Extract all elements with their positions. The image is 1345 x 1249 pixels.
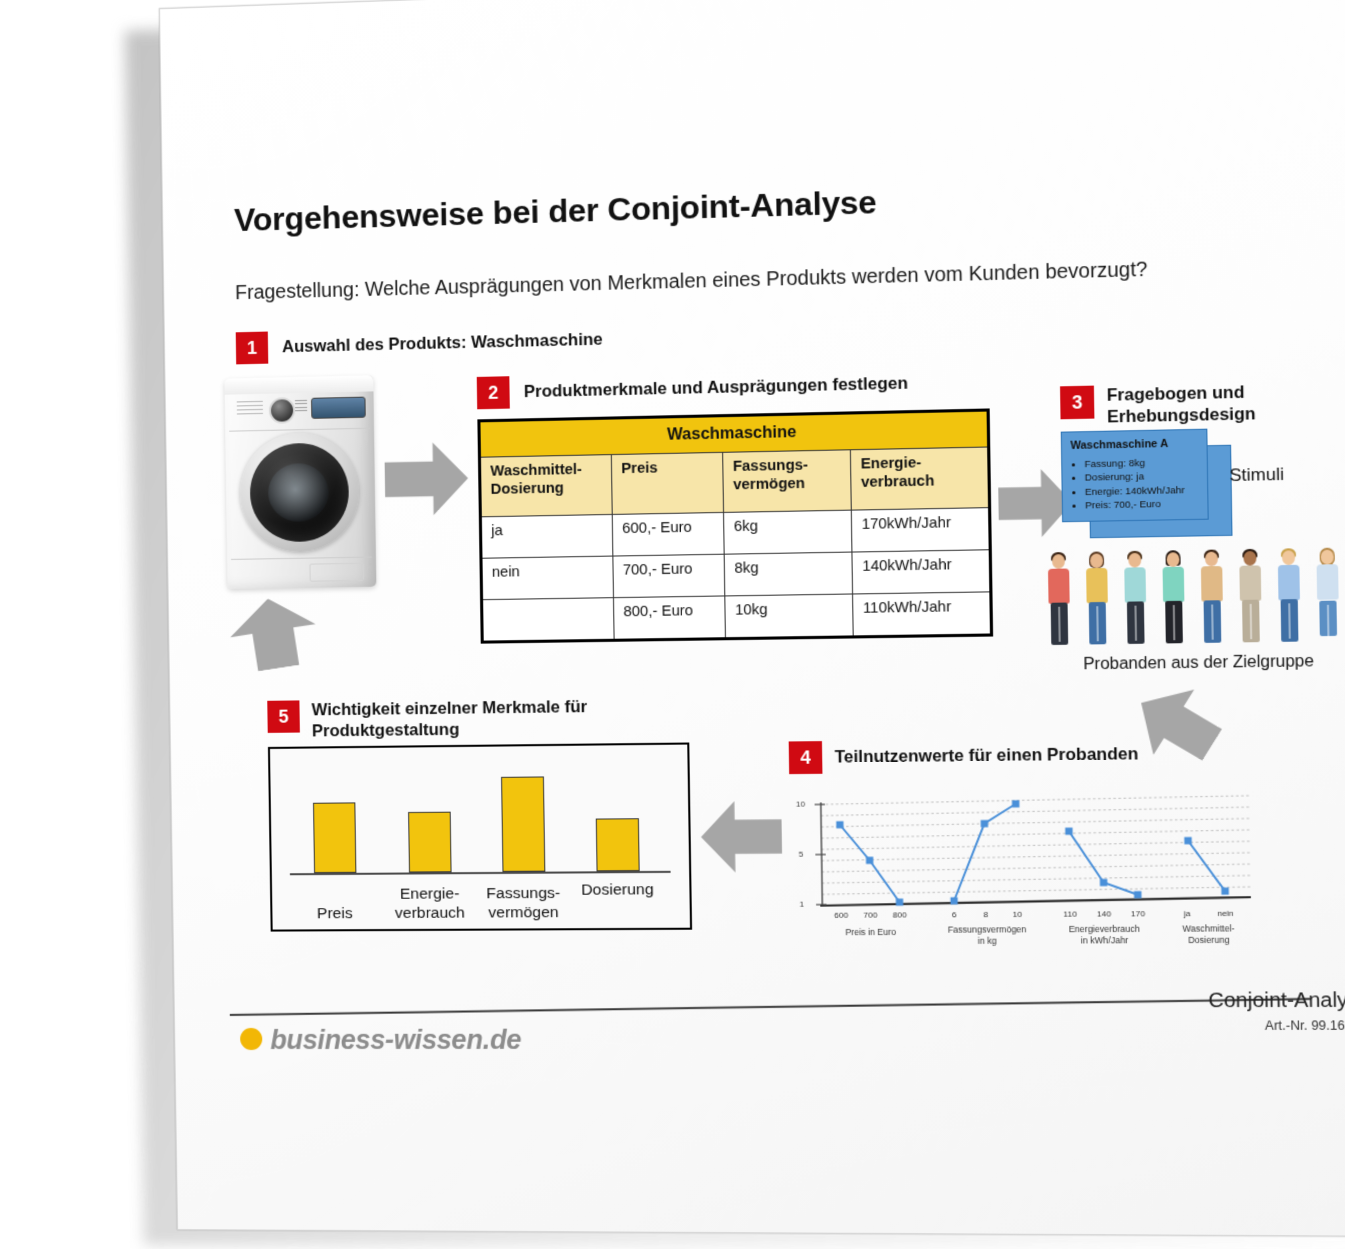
- step-label-4: Teilnutzenwerte für einen Probanden: [835, 744, 1139, 769]
- person-figure: [1197, 551, 1226, 647]
- x-group-label-dosierung-l2: Dosierung: [1188, 934, 1230, 945]
- stimulus-card-list: Fassung: 8kg Dosierung: ja Energie: 140k…: [1071, 456, 1199, 514]
- cell-1-1: 700,- Euro: [613, 554, 725, 597]
- footer-doc-title: Conjoint-Analyse: [1208, 989, 1345, 1013]
- y-tick-5: 5: [799, 850, 804, 859]
- person-figure: [1236, 551, 1265, 647]
- person-head: [1167, 552, 1180, 567]
- person-legs: [1242, 600, 1260, 643]
- bar-label-preis-l1: Preis: [317, 905, 353, 922]
- header-line-2: verbrauch: [861, 473, 935, 491]
- person-legs: [1204, 600, 1222, 643]
- stimulus-card-front: Waschmaschine A Fassung: 8kg Dosierung: …: [1061, 429, 1209, 523]
- x-axis: [820, 897, 1251, 905]
- table-header-cell-2: Fassungs- vermögen: [723, 450, 852, 513]
- x-tick-energie-140: 140: [1085, 909, 1123, 918]
- bar-label-energie-l1: Energie-: [400, 886, 460, 903]
- cell-2-2: 10kg: [725, 594, 853, 639]
- step-label-3: Fragebogen und Erhebungsdesign: [1107, 382, 1256, 429]
- person-figure: [1121, 553, 1150, 648]
- y-tick-1: 1: [799, 900, 804, 909]
- person-legs: [1127, 601, 1145, 644]
- bar-preis: [313, 802, 356, 873]
- step-badge-5: 5: [267, 700, 300, 732]
- person-head: [1090, 554, 1103, 569]
- chart-teilnutzenwerte: 10 5 1 600 700 800 Preis in Euro 6 8 10 …: [789, 786, 1255, 943]
- person-body: [1201, 566, 1223, 602]
- x-group-label-preis: Preis in Euro: [819, 927, 924, 938]
- x-group-label-energie-l2: in kWh/Jahr: [1081, 935, 1129, 946]
- line-chart-svg: [789, 786, 1255, 943]
- chart-wichtigkeit: Preis Energie- verbrauch Fassungs- vermö…: [268, 743, 692, 932]
- x-group-label-energieverbrauch: Energieverbrauch in kWh/Jahr: [1049, 924, 1160, 946]
- step-label-3-line-2: Erhebungsdesign: [1107, 405, 1256, 427]
- table-header-cell-1: Preis: [611, 452, 723, 514]
- wm-top: [224, 375, 373, 394]
- header-line-1: Preis: [621, 460, 658, 477]
- person-legs: [1089, 602, 1107, 645]
- person-figure: [1274, 550, 1303, 646]
- x-tick-dosierung-ja: ja: [1170, 909, 1204, 918]
- person-head: [1128, 553, 1141, 568]
- cell-2-0: [482, 598, 614, 642]
- step-label-3-line-1: Fragebogen und: [1107, 383, 1245, 405]
- person-body: [1239, 565, 1261, 601]
- person-legs: [1051, 603, 1069, 645]
- bar-label-fassung-l2: vermögen: [488, 904, 559, 922]
- cell-2-1: 800,- Euro: [613, 596, 725, 640]
- person-figure: [1045, 554, 1074, 649]
- person-head: [1282, 550, 1295, 565]
- person-figure: [1159, 552, 1188, 647]
- table-header-cell-0: Waschmittel- Dosierung: [479, 455, 612, 517]
- step-label-5: Wichtigkeit einzelner Merkmale für Produ…: [311, 697, 587, 743]
- wm-small-controls: [295, 400, 307, 414]
- person-body: [1278, 565, 1300, 601]
- person-body: [1086, 568, 1108, 603]
- bar-label-energie-l2: verbrauch: [395, 904, 465, 921]
- step-badge-3: 3: [1060, 386, 1094, 420]
- step-badge-4: 4: [789, 741, 823, 774]
- respondents-caption: Probanden aus der Zielgruppe: [1028, 652, 1345, 675]
- wm-buttons: [237, 401, 263, 418]
- wm-door-glass: [249, 442, 349, 542]
- x-tick-energie-110: 110: [1051, 909, 1089, 918]
- table-header-cell-3: Energie- verbrauch: [851, 447, 990, 510]
- step-label-1: Auswahl des Produkts: Waschmaschine: [282, 329, 603, 358]
- slide-sheet: Vorgehensweise bei der Conjoint-Analyse …: [159, 0, 1345, 1237]
- x-tick-energie-170: 170: [1119, 909, 1157, 918]
- person-legs: [1165, 601, 1183, 644]
- washing-machine-image: [224, 375, 376, 589]
- wm-drawer: [309, 563, 364, 582]
- arrow-left-utilities-to-importance: [700, 801, 782, 873]
- x-group-label-energie-l1: Energieverbrauch: [1069, 924, 1140, 935]
- bar-energieverbrauch: [408, 812, 452, 873]
- x-group-label-preis-l1: Preis in Euro: [845, 927, 896, 937]
- cell-0-0: ja: [480, 514, 612, 558]
- series-dosierung: [1188, 840, 1225, 891]
- person-head: [1205, 552, 1218, 567]
- x-group-label-fassungsvermoegen: Fassungsvermögen in kg: [932, 924, 1042, 946]
- person-head: [1052, 554, 1065, 569]
- step-label-5-line-2: Produktgestaltung: [312, 721, 460, 741]
- bar-label-dosierung-l1: Dosierung: [581, 881, 654, 899]
- business-wissen-logo-text: business-wissen.de: [270, 1025, 521, 1056]
- x-tick-fassung-10: 10: [998, 910, 1036, 919]
- cell-1-0: nein: [481, 556, 613, 600]
- cell-0-2: 6kg: [724, 510, 852, 554]
- wm-drum: [268, 463, 329, 522]
- header-line-2: Dosierung: [491, 480, 564, 498]
- x-group-label-fassung-l2: in kg: [978, 935, 997, 945]
- header-line-1: Fassungs-: [733, 457, 808, 475]
- person-body: [1124, 567, 1146, 602]
- wm-dial: [269, 397, 296, 424]
- x-group-label-dosierung: Waschmittel- Dosierung: [1155, 923, 1262, 945]
- step-badge-1: 1: [236, 332, 269, 365]
- person-legs: [1281, 599, 1299, 642]
- footer-divider: [230, 998, 1310, 1016]
- cell-0-3: 170kWh/Jahr: [851, 508, 990, 552]
- header-line-2: vermögen: [733, 475, 805, 493]
- cell-1-2: 8kg: [724, 552, 852, 596]
- page-subtitle: Fragestellung: Welche Ausprägungen von M…: [235, 258, 1148, 305]
- respondents-group: [1045, 546, 1345, 649]
- cell-0-1: 600,- Euro: [612, 512, 724, 556]
- stimulus-card-title: Waschmaschine A: [1070, 437, 1198, 452]
- bar-dosierung: [596, 818, 640, 871]
- person-body: [1317, 564, 1339, 600]
- header-line-1: Waschmittel-: [490, 462, 582, 480]
- business-wissen-logo-dot: [240, 1028, 262, 1050]
- person-legs: [1319, 601, 1337, 637]
- wm-display: [311, 397, 366, 419]
- step-label-2: Produktmerkmale und Ausprägungen festleg…: [524, 373, 909, 403]
- x-group-label-fassung-l1: Fassungsvermögen: [948, 924, 1027, 935]
- header-line-1: Energie-: [861, 455, 922, 473]
- x-tick-dosierung-nein: nein: [1208, 909, 1242, 918]
- x-tick-preis-800: 800: [881, 910, 919, 919]
- table-header-row: Waschmittel- Dosierung Preis Fassungs- v…: [479, 447, 989, 517]
- cell-2-3: 110kWh/Jahr: [853, 592, 992, 637]
- arrow-right-machine-to-table: [384, 442, 468, 516]
- screenshot-root: Vorgehensweise bei der Conjoint-Analyse …: [0, 0, 1345, 1241]
- person-figure: [1313, 550, 1342, 646]
- stimuli-label: Stimuli: [1229, 464, 1284, 486]
- page-title: Vorgehensweise bei der Conjoint-Analyse: [234, 184, 877, 240]
- gridlines: [821, 796, 1251, 895]
- person-body: [1048, 569, 1070, 604]
- bar-label-dosierung: Dosierung: [560, 881, 675, 900]
- bar-fassungsvermoegen: [501, 776, 545, 871]
- y-tick-10: 10: [796, 800, 805, 809]
- step-label-5-line-1: Wichtigkeit einzelner Merkmale für: [311, 698, 587, 719]
- table-row: 800,- Euro 10kg 110kWh/Jahr: [482, 592, 992, 642]
- wm-control-panel: [233, 394, 366, 427]
- x-group-label-dosierung-l1: Waschmittel-: [1182, 923, 1234, 934]
- step-badge-2: 2: [477, 376, 510, 409]
- series-fassungsvermoegen: [953, 804, 1018, 901]
- person-head: [1243, 551, 1256, 566]
- stimulus-attr-preis: Preis: 700,- Euro: [1085, 498, 1199, 514]
- stimulus-attr-energie: Energie: 140kWh/Jahr: [1085, 484, 1199, 500]
- slide-content: Vorgehensweise bei der Conjoint-Analyse …: [159, 0, 1345, 1237]
- cell-1-3: 140kWh/Jahr: [852, 550, 991, 594]
- bar-label-fassung-l1: Fassungs-: [486, 885, 560, 903]
- arrow-up-importance-to-product: [225, 592, 321, 675]
- person-figure: [1083, 553, 1112, 648]
- person-body: [1163, 567, 1185, 602]
- product-attributes-table: Waschmaschine Waschmittel- Dosierung Pre…: [477, 408, 993, 643]
- footer-article-number: Art.-Nr. 99.162.01: [1265, 1018, 1345, 1033]
